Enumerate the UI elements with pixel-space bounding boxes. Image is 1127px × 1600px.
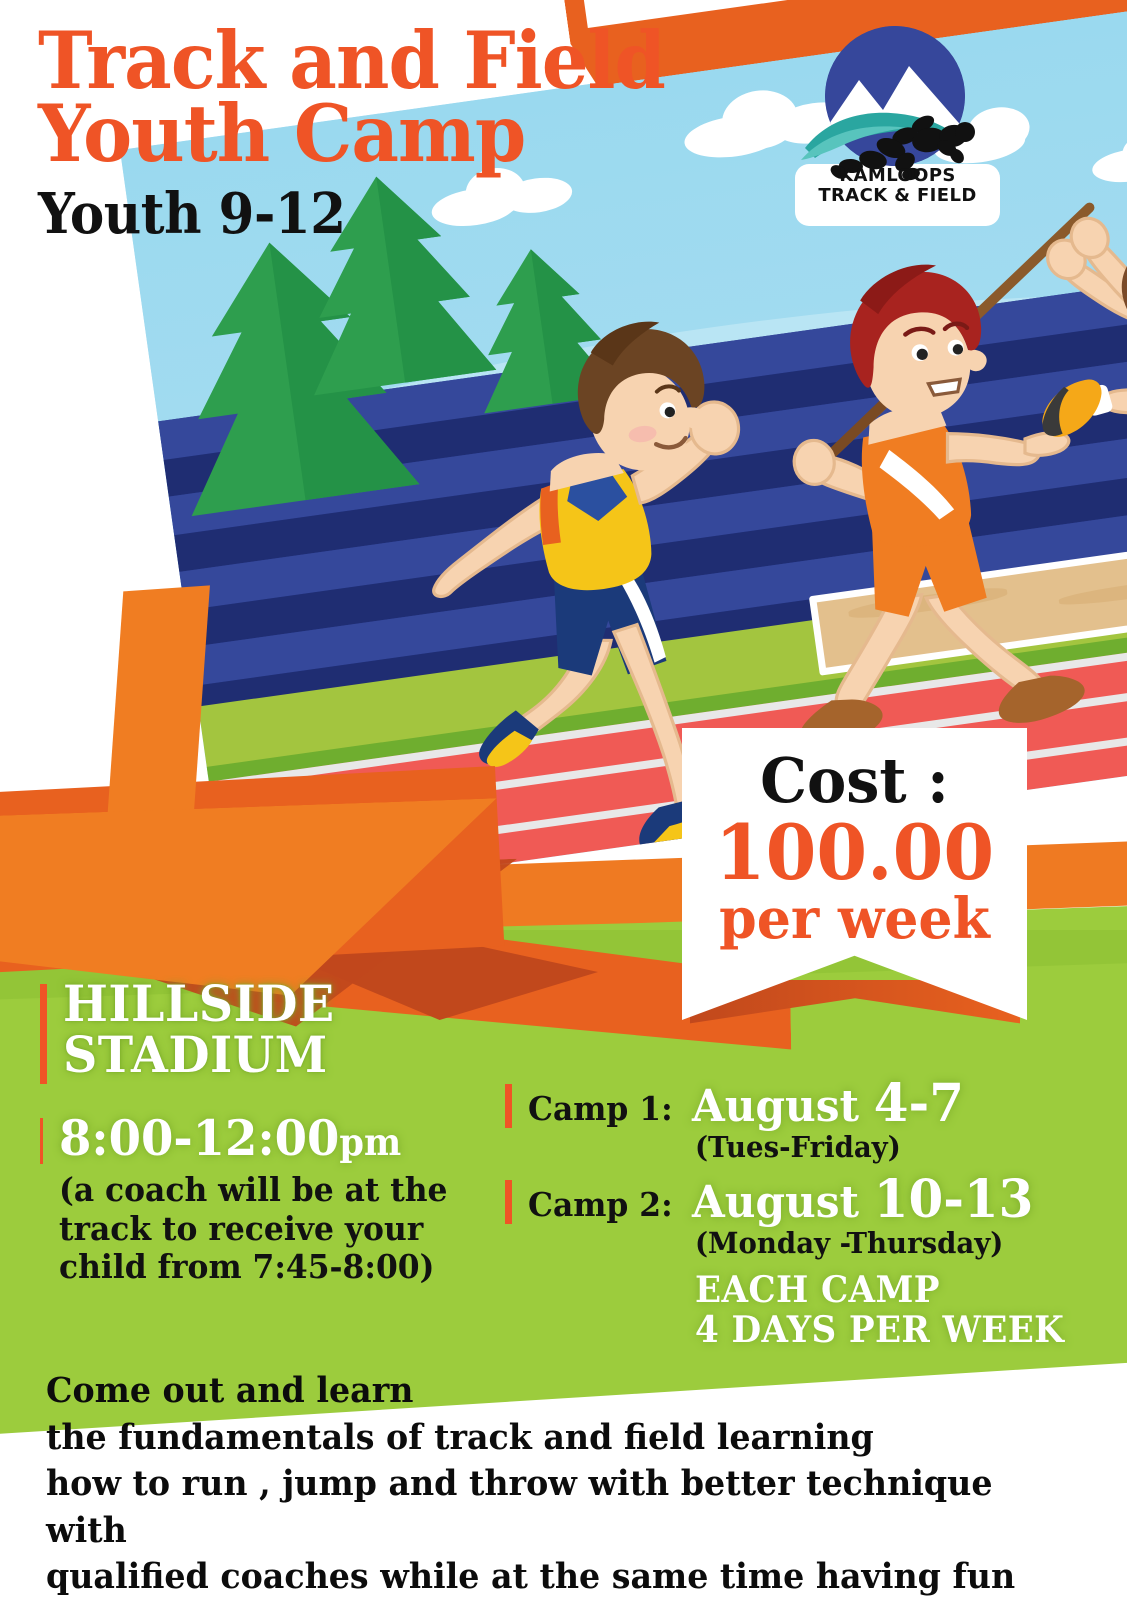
camp-2-days: 10-13 (874, 1169, 1034, 1230)
camp-dates-block: Camp 1: August 4-7 (Tues-Friday) Camp 2:… (505, 1078, 1105, 1350)
camp-2-label: Camp 2: (528, 1174, 673, 1225)
footer-line-1: Come out and learn (46, 1368, 1044, 1415)
cost-period: per week (689, 890, 1020, 949)
schedule-line-1: EACH CAMP (695, 1270, 1085, 1310)
camp-time: 8:00-12:00pm (59, 1114, 488, 1163)
title-line-1: Track and Field (38, 24, 665, 97)
title-line-2: Youth Camp (38, 97, 665, 170)
camp-2-month: August (692, 1177, 859, 1228)
footer-description: Come out and learn the fundamentals of t… (46, 1368, 1044, 1600)
camp-2-weekdays: (Monday -Thursday) (695, 1228, 1085, 1260)
accent-bar (40, 1118, 43, 1164)
logo: KAMLOOPS TRACK & FIELD (795, 26, 1000, 226)
cost-label: Cost : (691, 750, 1019, 812)
accent-bar (40, 984, 47, 1084)
venue-line-2: STADIUM (63, 1029, 335, 1080)
camp-1-month: August (692, 1081, 859, 1132)
camp-time-range: 8:00-12:00 (59, 1109, 339, 1167)
accent-bar (505, 1180, 512, 1224)
venue-line-1: HILLSIDE (63, 978, 335, 1029)
accent-bar (505, 1084, 512, 1128)
schedule-line-2: 4 DAYS PER WEEK (695, 1310, 1085, 1350)
poster-root: Track and Field Youth Camp Youth 9-12 (0, 0, 1127, 1600)
coach-note: (a coach will be at the track to receive… (59, 1171, 488, 1287)
camp-1-days: 4-7 (874, 1073, 964, 1134)
poster-title-block: Track and Field Youth Camp Youth 9-12 (38, 24, 712, 244)
camp-2-date: August 10-13 (692, 1174, 1033, 1226)
footer-line-3: how to run , jump and throw with better … (46, 1461, 1044, 1554)
camp-row: Camp 1: August 4-7 (505, 1078, 1105, 1130)
poster-subtitle: Youth 9-12 (38, 185, 658, 244)
venue-info-block: HILLSIDE STADIUM 8:00-12:00pm (a coach w… (40, 978, 510, 1287)
logo-line-2: TRACK & FIELD (795, 186, 1000, 206)
footer-line-4: qualified coaches while at the same time… (46, 1554, 1044, 1600)
logo-line-1: KAMLOOPS (795, 166, 1000, 186)
camp-1-label: Camp 1: (528, 1078, 673, 1129)
camp-1-weekdays: (Tues-Friday) (695, 1132, 1085, 1164)
camp-1-date: August 4-7 (692, 1078, 964, 1130)
camp-row: Camp 2: August 10-13 (505, 1174, 1105, 1226)
logo-text-block: KAMLOOPS TRACK & FIELD (795, 166, 1000, 206)
camp-time-suffix: pm (339, 1120, 401, 1164)
footer-line-2: the fundamentals of track and field lear… (46, 1415, 1044, 1462)
cost-amount: 100.00 (689, 814, 1020, 892)
